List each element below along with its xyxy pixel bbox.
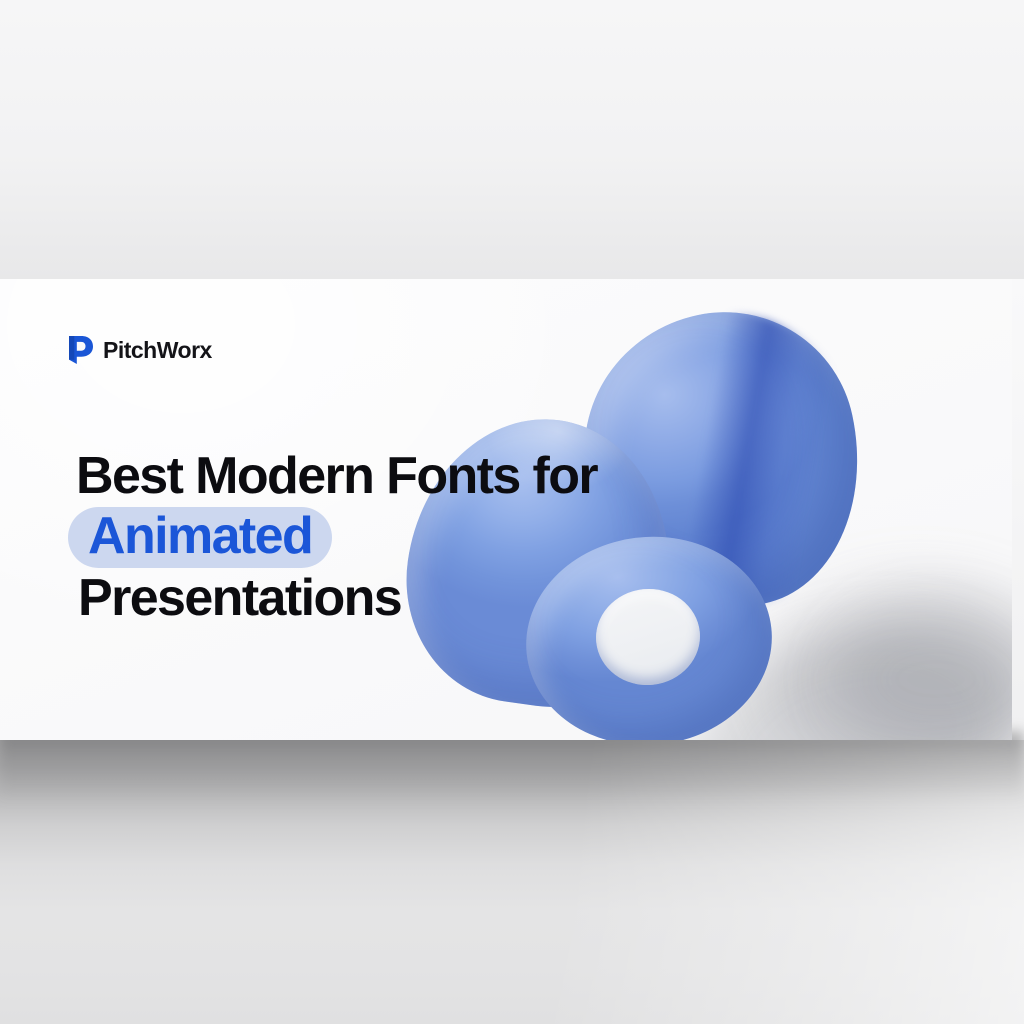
card-contact-shadow [0,732,1024,802]
banner-scene: PitchWorx Best Modern Fonts for Animated… [0,0,1024,1024]
headline-block: Best Modern Fonts for Animated Presentat… [76,446,796,628]
headline-highlight-pill: Animated [68,507,332,568]
brand-name: PitchWorx [103,339,212,362]
pitchworx-p-mark-icon [66,334,94,366]
headline-line-2: Animated [68,506,796,568]
headline-line-1: Best Modern Fonts for [76,446,796,506]
brand-logo[interactable]: PitchWorx [66,334,212,366]
backdrop-wall [0,0,1024,279]
headline-line-3: Presentations [78,568,796,628]
